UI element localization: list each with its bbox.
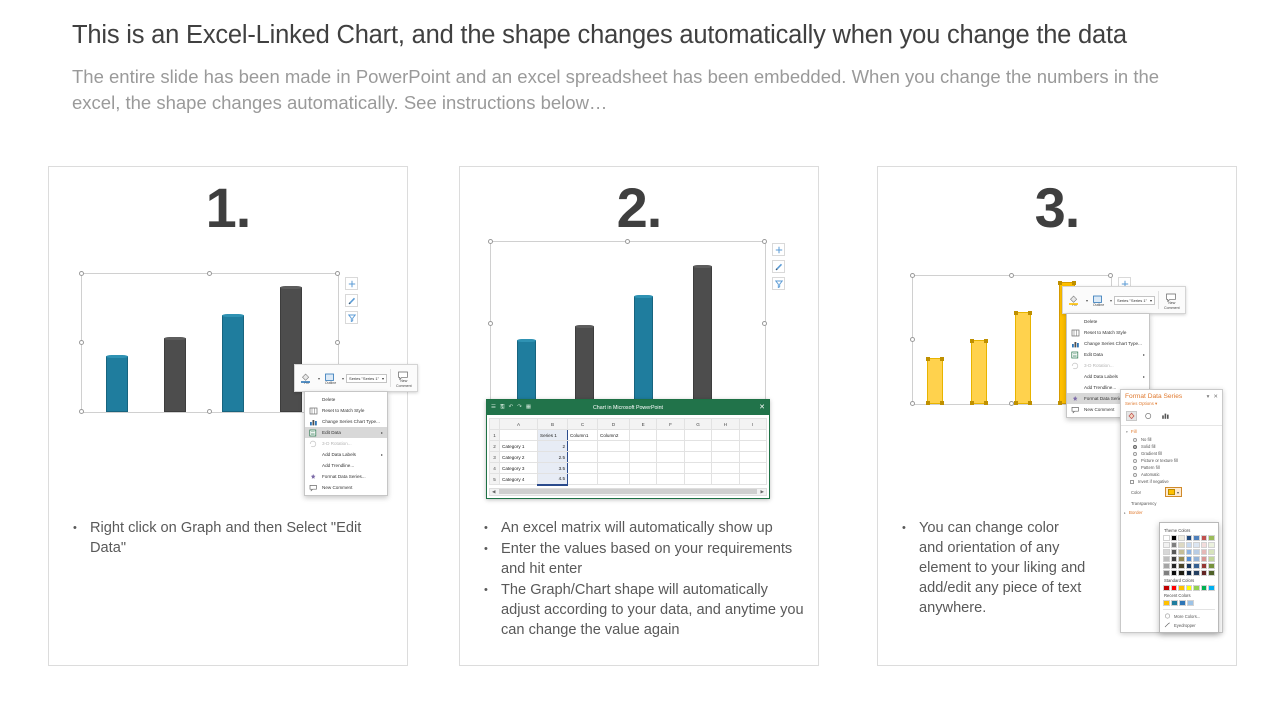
resize-handle-ml[interactable]	[488, 321, 493, 326]
rotation-icon	[309, 440, 318, 448]
reset-icon	[309, 407, 318, 415]
shade-row[interactable]	[1163, 556, 1215, 562]
standard-swatch[interactable]	[1178, 585, 1185, 591]
context-menu-item-reset-to-match-style[interactable]: Reset to Match Style	[1067, 327, 1149, 338]
context-menu-item-add-trendline[interactable]: Add Trendline...	[305, 460, 387, 471]
submenu-arrow-icon: ▸	[381, 430, 383, 435]
page-title: This is an Excel-Linked Chart, and the s…	[72, 20, 1212, 51]
panel-number-2: 2.	[460, 175, 818, 240]
undo-icon[interactable]: ↶	[509, 405, 514, 411]
resize-handle-tc[interactable]	[625, 239, 630, 244]
resize-handle-tl[interactable]	[910, 273, 915, 278]
shade-swatch[interactable]	[1163, 563, 1170, 569]
shade-swatch[interactable]	[1208, 563, 1215, 569]
resize-handle-ml[interactable]	[79, 340, 84, 345]
cell-D4[interactable]	[598, 463, 630, 474]
chart-side-buttons-2	[772, 243, 785, 294]
tab-fill-and-line[interactable]	[1126, 411, 1137, 421]
more-colors-icon	[1164, 613, 1171, 620]
standard-swatch[interactable]	[1193, 585, 1200, 591]
fill-option-label: No fill	[1141, 437, 1151, 442]
cell-G2[interactable]	[684, 441, 711, 452]
bar-category-2[interactable]	[575, 326, 594, 406]
cell-B3[interactable]: 2.5	[538, 452, 568, 463]
fill-option-no-fill[interactable]: No fill	[1121, 436, 1222, 443]
cell-A1[interactable]	[500, 430, 538, 441]
cell-C5[interactable]	[568, 474, 598, 485]
chart-filters-funnel-icon[interactable]	[345, 311, 358, 324]
bar-category-3[interactable]	[1015, 312, 1031, 404]
chart-filters-funnel-icon[interactable]	[772, 277, 785, 290]
fill-dropdown-caret-icon[interactable]: ▾	[318, 376, 320, 381]
cell-D5[interactable]	[598, 474, 630, 485]
bar-category-3[interactable]	[634, 296, 653, 406]
bar-category-2[interactable]	[971, 340, 987, 404]
pane-dropdown-caret-icon[interactable]: ▾	[1207, 394, 1210, 400]
cell-I3[interactable]	[739, 452, 766, 463]
cell-I1[interactable]	[739, 430, 766, 441]
panel-step-2: 2.	[459, 166, 819, 666]
column-header-F[interactable]: F	[657, 419, 684, 430]
fill-button[interactable]: Fill	[1066, 291, 1083, 309]
context-menu-item-change-series-chart-type[interactable]: Change Series Chart Type...	[305, 416, 387, 427]
bar-category-4[interactable]	[280, 287, 302, 412]
list-item: • You can change color and orientation o…	[902, 519, 1086, 619]
context-menu-item-delete[interactable]: Delete	[305, 394, 387, 405]
context-menu-item-edit-data[interactable]: Edit Data ▸	[1067, 349, 1149, 360]
context-menu-item-reset-to-match-style[interactable]: Reset to Match Style	[305, 405, 387, 416]
cell-E1[interactable]	[630, 430, 657, 441]
resize-handle-mr[interactable]	[762, 321, 767, 326]
edit-data-icon	[309, 429, 318, 437]
submenu-arrow-icon: ▸	[1143, 352, 1145, 357]
blank-icon	[1071, 384, 1080, 392]
redo-icon[interactable]: ↷	[517, 405, 522, 411]
fill-section-label: Fill	[1131, 429, 1137, 434]
cell-A2[interactable]: Category 1	[500, 441, 538, 452]
border-section-header[interactable]: ▸ Border	[1121, 508, 1222, 517]
close-icon[interactable]: ✕	[1213, 394, 1218, 400]
bullet-text: Right click on Graph and then Select "Ed…	[90, 519, 393, 559]
row-header-2[interactable]: 2	[490, 441, 500, 452]
rotation-icon	[1071, 362, 1080, 370]
chart-styles-brush-icon[interactable]	[772, 260, 785, 273]
shade-swatch[interactable]	[1178, 570, 1185, 576]
shade-swatch[interactable]	[1163, 542, 1170, 548]
standard-colors-label: Standard Colors	[1164, 578, 1214, 583]
fill-button[interactable]: Fill	[298, 369, 315, 387]
row-header-4[interactable]: 4	[490, 463, 500, 474]
format-pane-title: Format Data Series	[1125, 393, 1203, 400]
color-picker-button[interactable]: ▾	[1165, 487, 1182, 497]
bar-category-3[interactable]	[222, 315, 244, 412]
new-comment-button[interactable]: New Comment	[394, 367, 414, 389]
swatch-blue[interactable]	[1193, 535, 1200, 541]
divider	[1121, 425, 1222, 426]
panel-number-3: 3.	[878, 175, 1236, 240]
recent-swatch[interactable]	[1163, 600, 1170, 606]
shade-row[interactable]	[1163, 563, 1215, 569]
shade-swatch[interactable]	[1201, 556, 1208, 562]
series-selector-value: Series "Series 1"	[1117, 298, 1147, 303]
fill-option-solid-fill[interactable]: Solid fill	[1121, 443, 1222, 450]
excel-quick-access-toolbar[interactable]: ☰ 🖫 ↶ ↷ ▦	[491, 405, 531, 411]
standard-colors-row[interactable]	[1163, 585, 1215, 591]
cell-G1[interactable]	[684, 430, 711, 441]
shade-row[interactable]	[1163, 549, 1215, 555]
cell-H5[interactable]	[712, 474, 739, 485]
menu-icon[interactable]: ☰	[491, 405, 496, 411]
cell-A3[interactable]: Category 2	[500, 452, 538, 463]
shade-swatch[interactable]	[1208, 556, 1215, 562]
page-subtitle: The entire slide has been made in PowerP…	[72, 64, 1202, 117]
series-selector-dropdown[interactable]: Series "Series 1" ▾	[1114, 296, 1155, 305]
recent-colors-row[interactable]	[1163, 600, 1215, 606]
cell-H4[interactable]	[712, 463, 739, 474]
cell-B5[interactable]: 4.5	[538, 474, 568, 485]
cell-F1[interactable]	[657, 430, 684, 441]
bullet-dot: •	[484, 581, 501, 641]
cell-I2[interactable]	[739, 441, 766, 452]
context-menu-item-edit-data[interactable]: Edit Data ▸	[305, 427, 387, 438]
cell-G5[interactable]	[684, 474, 711, 485]
cell-H1[interactable]	[712, 430, 739, 441]
cell-A5[interactable]: Category 4	[500, 474, 538, 485]
recent-swatch[interactable]	[1179, 600, 1186, 606]
shade-swatch[interactable]	[1208, 549, 1215, 555]
context-menu-label: 3-D Rotation...	[1084, 363, 1145, 368]
eyedropper-menu-item[interactable]: Eyedropper	[1163, 620, 1215, 629]
context-menu-item-3d-rotation: 3-D Rotation...	[1067, 360, 1149, 371]
format-pane-header: Format Data Series ▾ ✕	[1121, 390, 1222, 401]
excel-column-header-row: A B C D E F G H I	[490, 419, 767, 430]
select-all-corner[interactable]	[490, 419, 500, 430]
resize-handle-bc[interactable]	[207, 409, 212, 414]
shade-swatch[interactable]	[1186, 542, 1193, 548]
new-comment-label-2: Comment	[1164, 307, 1180, 311]
bullets-1: • Right click on Graph and then Select "…	[73, 519, 393, 560]
cell-C1[interactable]: Column1	[568, 430, 598, 441]
shade-swatch[interactable]	[1193, 570, 1200, 576]
invert-if-negative-checkbox[interactable]: Invert if negative	[1121, 478, 1222, 485]
outline-button[interactable]: Outline	[322, 369, 339, 387]
shade-swatch[interactable]	[1201, 549, 1208, 555]
cell-E5[interactable]	[630, 474, 657, 485]
cell-F5[interactable]	[657, 474, 684, 485]
format-pane-tabs	[1121, 409, 1222, 424]
radio-icon	[1133, 438, 1137, 442]
chart-type-icon	[1071, 340, 1080, 348]
shade-swatch[interactable]	[1178, 549, 1185, 555]
mini-toolbar-1[interactable]: Fill ▾ Outline ▾ Series "Series 1" ▾ New	[294, 364, 418, 392]
bar-category-1[interactable]	[106, 356, 128, 412]
resize-handle-bl[interactable]	[910, 401, 915, 406]
shade-swatch[interactable]	[1193, 549, 1200, 555]
standard-swatch[interactable]	[1171, 585, 1178, 591]
bullet-dot: •	[484, 519, 501, 539]
resize-handle-bc[interactable]	[1009, 401, 1014, 406]
border-section-label: Border	[1129, 510, 1143, 515]
comment-balloon-icon	[397, 368, 410, 379]
fill-option-label: Automatic	[1141, 472, 1160, 477]
shade-row[interactable]	[1163, 542, 1215, 548]
resize-handle-bl[interactable]	[79, 409, 84, 414]
context-menu-label: Delete	[1084, 319, 1145, 324]
shade-swatch[interactable]	[1171, 556, 1178, 562]
shade-swatch[interactable]	[1163, 570, 1170, 576]
row-header-3[interactable]: 3	[490, 452, 500, 463]
swatch-black[interactable]	[1171, 535, 1178, 541]
swatch-darkblue[interactable]	[1186, 535, 1193, 541]
cell-D2[interactable]	[598, 441, 630, 452]
chart-side-buttons-1	[345, 277, 358, 328]
shade-swatch[interactable]	[1186, 556, 1193, 562]
fill-option-picture-or-texture-fill[interactable]: Picture or texture fill	[1121, 457, 1222, 464]
series-options-label: Series Options	[1125, 401, 1154, 406]
more-colors-menu-item[interactable]: More Colors...	[1163, 611, 1215, 620]
shade-row[interactable]	[1163, 570, 1215, 576]
shade-swatch[interactable]	[1163, 556, 1170, 562]
swatch-tan[interactable]	[1178, 535, 1185, 541]
table-row[interactable]: 5 Category 4 4.5	[490, 474, 767, 485]
bar-category-1[interactable]	[517, 340, 536, 406]
shade-swatch[interactable]	[1193, 563, 1200, 569]
cell-F2[interactable]	[657, 441, 684, 452]
bullet-dot: •	[484, 540, 501, 580]
bar-category-2[interactable]	[164, 338, 186, 412]
panel-step-3: 3.	[877, 166, 1237, 666]
standard-swatch[interactable]	[1208, 585, 1215, 591]
resize-handle-tc[interactable]	[1009, 273, 1014, 278]
excel-title-bar[interactable]: ☰ 🖫 ↶ ↷ ▦ Chart in Microsoft PowerPoint …	[487, 400, 769, 415]
cell-H3[interactable]	[712, 452, 739, 463]
theme-shades-grid[interactable]	[1163, 542, 1215, 576]
context-menu-label: Change Series Chart Type...	[322, 419, 383, 424]
chart-2[interactable]	[478, 235, 808, 415]
swatch-red[interactable]	[1201, 535, 1208, 541]
context-menu-label: Add Trendline...	[322, 463, 383, 468]
standard-swatch[interactable]	[1163, 585, 1170, 591]
fill-option-label: Pattern fill	[1141, 465, 1160, 470]
series-options-dropdown[interactable]: Series Options ▾	[1121, 401, 1222, 409]
recent-swatch[interactable]	[1187, 600, 1194, 606]
resize-handle-tl[interactable]	[79, 271, 84, 276]
column-header-C[interactable]: C	[568, 419, 598, 430]
resize-handle-tl[interactable]	[488, 239, 493, 244]
standard-swatch[interactable]	[1186, 585, 1193, 591]
comment-icon	[309, 484, 318, 492]
blank-icon	[309, 451, 318, 459]
series-dropdown-caret-icon: ▾	[382, 376, 384, 381]
fill-option-pattern-fill[interactable]: Pattern fill	[1121, 464, 1222, 471]
context-menu-item-format-data-series[interactable]: Format Data Series...	[305, 471, 387, 482]
cell-E4[interactable]	[630, 463, 657, 474]
shade-swatch[interactable]	[1201, 542, 1208, 548]
context-menu-1[interactable]: Delete Reset to Match Style Change Serie…	[304, 391, 388, 496]
context-menu-item-new-comment[interactable]: New Comment	[305, 482, 387, 493]
outline-button[interactable]: Outline	[1090, 291, 1107, 309]
cell-E3[interactable]	[630, 452, 657, 463]
shade-swatch[interactable]	[1178, 563, 1185, 569]
cell-A4[interactable]: Category 3	[500, 463, 538, 474]
color-swatch	[1168, 489, 1175, 495]
horizontal-scrollbar[interactable]: ◀ ▶	[489, 488, 767, 496]
row-header-5[interactable]: 5	[490, 474, 500, 485]
shade-swatch[interactable]	[1171, 563, 1178, 569]
fill-option-gradient-fill[interactable]: Gradient fill	[1121, 450, 1222, 457]
recent-swatch[interactable]	[1171, 600, 1178, 606]
panel-number-1: 1.	[49, 175, 407, 240]
color-picker-popup[interactable]: Theme Colors	[1159, 522, 1219, 633]
resize-handle-tr[interactable]	[1108, 273, 1113, 278]
cell-H2[interactable]	[712, 441, 739, 452]
swatch-green[interactable]	[1208, 535, 1215, 541]
cell-C3[interactable]	[568, 452, 598, 463]
shade-swatch[interactable]	[1208, 542, 1215, 548]
expand-triangle-icon: ▾	[1126, 430, 1128, 434]
shade-swatch[interactable]	[1201, 563, 1208, 569]
theme-colors-label: Theme Colors	[1164, 528, 1214, 533]
column-header-A[interactable]: A	[500, 419, 538, 430]
comment-icon	[1071, 406, 1080, 414]
context-menu-item-delete[interactable]: Delete	[1067, 316, 1149, 327]
shade-swatch[interactable]	[1178, 542, 1185, 548]
comment-balloon-icon	[1165, 290, 1178, 301]
cell-I5[interactable]	[739, 474, 766, 485]
column-header-E[interactable]: E	[630, 419, 657, 430]
cell-B2[interactable]: 2	[538, 441, 568, 452]
table-row[interactable]: 3 Category 2 2.5	[490, 452, 767, 463]
fill-option-label: Gradient fill	[1141, 451, 1162, 456]
shade-swatch[interactable]	[1201, 570, 1208, 576]
cell-C2[interactable]	[568, 441, 598, 452]
outline-dropdown-caret-icon[interactable]: ▾	[342, 376, 344, 381]
excel-grid[interactable]: A B C D E F G H I 1 Series 1 Colu	[489, 418, 767, 486]
cell-B4[interactable]: 3.5	[538, 463, 568, 474]
more-colors-label: More Colors...	[1174, 614, 1200, 619]
context-menu-item-add-data-labels[interactable]: Add Data Labels ▸	[305, 449, 387, 460]
table-row[interactable]: 1 Series 1 Column1 Column2	[490, 430, 767, 441]
cell-F3[interactable]	[657, 452, 684, 463]
bar-category-1[interactable]	[927, 358, 943, 404]
context-menu-label: Reset to Match Style	[1084, 330, 1145, 335]
close-icon[interactable]: ✕	[759, 404, 765, 411]
column-header-G[interactable]: G	[684, 419, 711, 430]
fill-dropdown-caret-icon[interactable]: ▾	[1086, 298, 1088, 303]
series-selector-dropdown[interactable]: Series "Series 1" ▾	[346, 374, 387, 383]
cell-D3[interactable]	[598, 452, 630, 463]
cell-I4[interactable]	[739, 463, 766, 474]
tab-series-options[interactable]	[1160, 411, 1171, 421]
outline-dropdown-caret-icon[interactable]: ▾	[1110, 298, 1112, 303]
cell-G4[interactable]	[684, 463, 711, 474]
submenu-arrow-icon: ▸	[381, 452, 383, 457]
bullets-3: • You can change color and orientation o…	[902, 519, 1086, 620]
standard-swatch[interactable]	[1201, 585, 1208, 591]
cell-C4[interactable]	[568, 463, 598, 474]
fill-option-automatic[interactable]: Automatic	[1121, 471, 1222, 478]
bullet-text: You can change color and orientation of …	[919, 519, 1086, 619]
table-row[interactable]: 4 Category 3 3.5	[490, 463, 767, 474]
blank-icon	[1071, 373, 1080, 381]
slide-header: This is an Excel-Linked Chart, and the s…	[72, 20, 1212, 116]
scrollbar-thumb[interactable]	[499, 489, 756, 494]
expand-triangle-icon: ▸	[1124, 511, 1126, 515]
tab-effects[interactable]	[1143, 411, 1154, 421]
context-menu-label: Change Series Chart Type...	[1084, 341, 1145, 346]
table-row[interactable]: 2 Category 1 2	[490, 441, 767, 452]
shade-swatch[interactable]	[1178, 556, 1185, 562]
resize-handle-ml[interactable]	[910, 337, 915, 342]
panels-container: 1.	[48, 166, 1232, 666]
save-icon[interactable]: 🖫	[500, 405, 505, 411]
shade-swatch[interactable]	[1193, 542, 1200, 548]
shade-swatch[interactable]	[1163, 549, 1170, 555]
shade-swatch[interactable]	[1171, 570, 1178, 576]
radio-icon	[1133, 466, 1137, 470]
cell-G3[interactable]	[684, 452, 711, 463]
cell-E2[interactable]	[630, 441, 657, 452]
resize-handle-tr[interactable]	[762, 239, 767, 244]
theme-colors-row[interactable]	[1163, 535, 1215, 541]
new-comment-button[interactable]: New Comment	[1162, 289, 1182, 311]
context-menu-label: Format Data Series...	[322, 474, 383, 479]
bullet-text: An excel matrix will automatically show …	[501, 519, 804, 539]
fill-section-header[interactable]: ▾ Fill	[1121, 427, 1222, 436]
shade-swatch[interactable]	[1208, 570, 1215, 576]
chevron-down-icon: ▾	[1177, 490, 1179, 495]
swatch-white[interactable]	[1163, 535, 1170, 541]
shade-swatch[interactable]	[1186, 570, 1193, 576]
chart-styles-brush-icon[interactable]	[345, 294, 358, 307]
excel-app-icon: ▦	[526, 405, 531, 411]
shade-swatch[interactable]	[1186, 563, 1193, 569]
column-header-B[interactable]: B	[538, 419, 568, 430]
scroll-left-arrow-icon[interactable]: ◀	[490, 489, 497, 495]
resize-handle-tr[interactable]	[335, 271, 340, 276]
excel-window[interactable]: ☰ 🖫 ↶ ↷ ▦ Chart in Microsoft PowerPoint …	[486, 399, 770, 499]
outline-pen-icon	[1092, 292, 1105, 303]
toolbar-divider	[1158, 291, 1159, 309]
bar-category-4[interactable]	[693, 266, 712, 406]
column-header-H[interactable]: H	[712, 419, 739, 430]
scroll-right-arrow-icon[interactable]: ▶	[759, 489, 766, 495]
chart-frame-2[interactable]	[490, 241, 766, 407]
context-menu-item-add-data-labels[interactable]: Add Data Labels ▸	[1067, 371, 1149, 382]
resize-handle-tc[interactable]	[207, 271, 212, 276]
column-header-I[interactable]: I	[739, 419, 766, 430]
column-header-D[interactable]: D	[598, 419, 630, 430]
shade-swatch[interactable]	[1186, 549, 1193, 555]
eyedropper-label: Eyedropper	[1174, 623, 1196, 628]
shade-swatch[interactable]	[1193, 556, 1200, 562]
resize-handle-mr[interactable]	[335, 340, 340, 345]
bullet-text: The Graph/Chart shape will automatically…	[501, 581, 804, 641]
transparency-row: Transparency	[1121, 499, 1222, 508]
cell-B1[interactable]: Series 1	[538, 430, 568, 441]
context-menu-item-change-series-chart-type[interactable]: Change Series Chart Type...	[1067, 338, 1149, 349]
row-header-1[interactable]: 1	[490, 430, 500, 441]
radio-icon	[1133, 452, 1137, 456]
cell-D1[interactable]: Column2	[598, 430, 630, 441]
chart-elements-plus-icon[interactable]	[345, 277, 358, 290]
shade-swatch[interactable]	[1171, 542, 1178, 548]
mini-toolbar-3[interactable]: Fill ▾ Outline ▾ Series "Series 1" ▾ New	[1062, 286, 1186, 314]
cell-F4[interactable]	[657, 463, 684, 474]
shade-swatch[interactable]	[1171, 549, 1178, 555]
chart-elements-plus-icon[interactable]	[772, 243, 785, 256]
edit-data-icon	[1071, 351, 1080, 359]
